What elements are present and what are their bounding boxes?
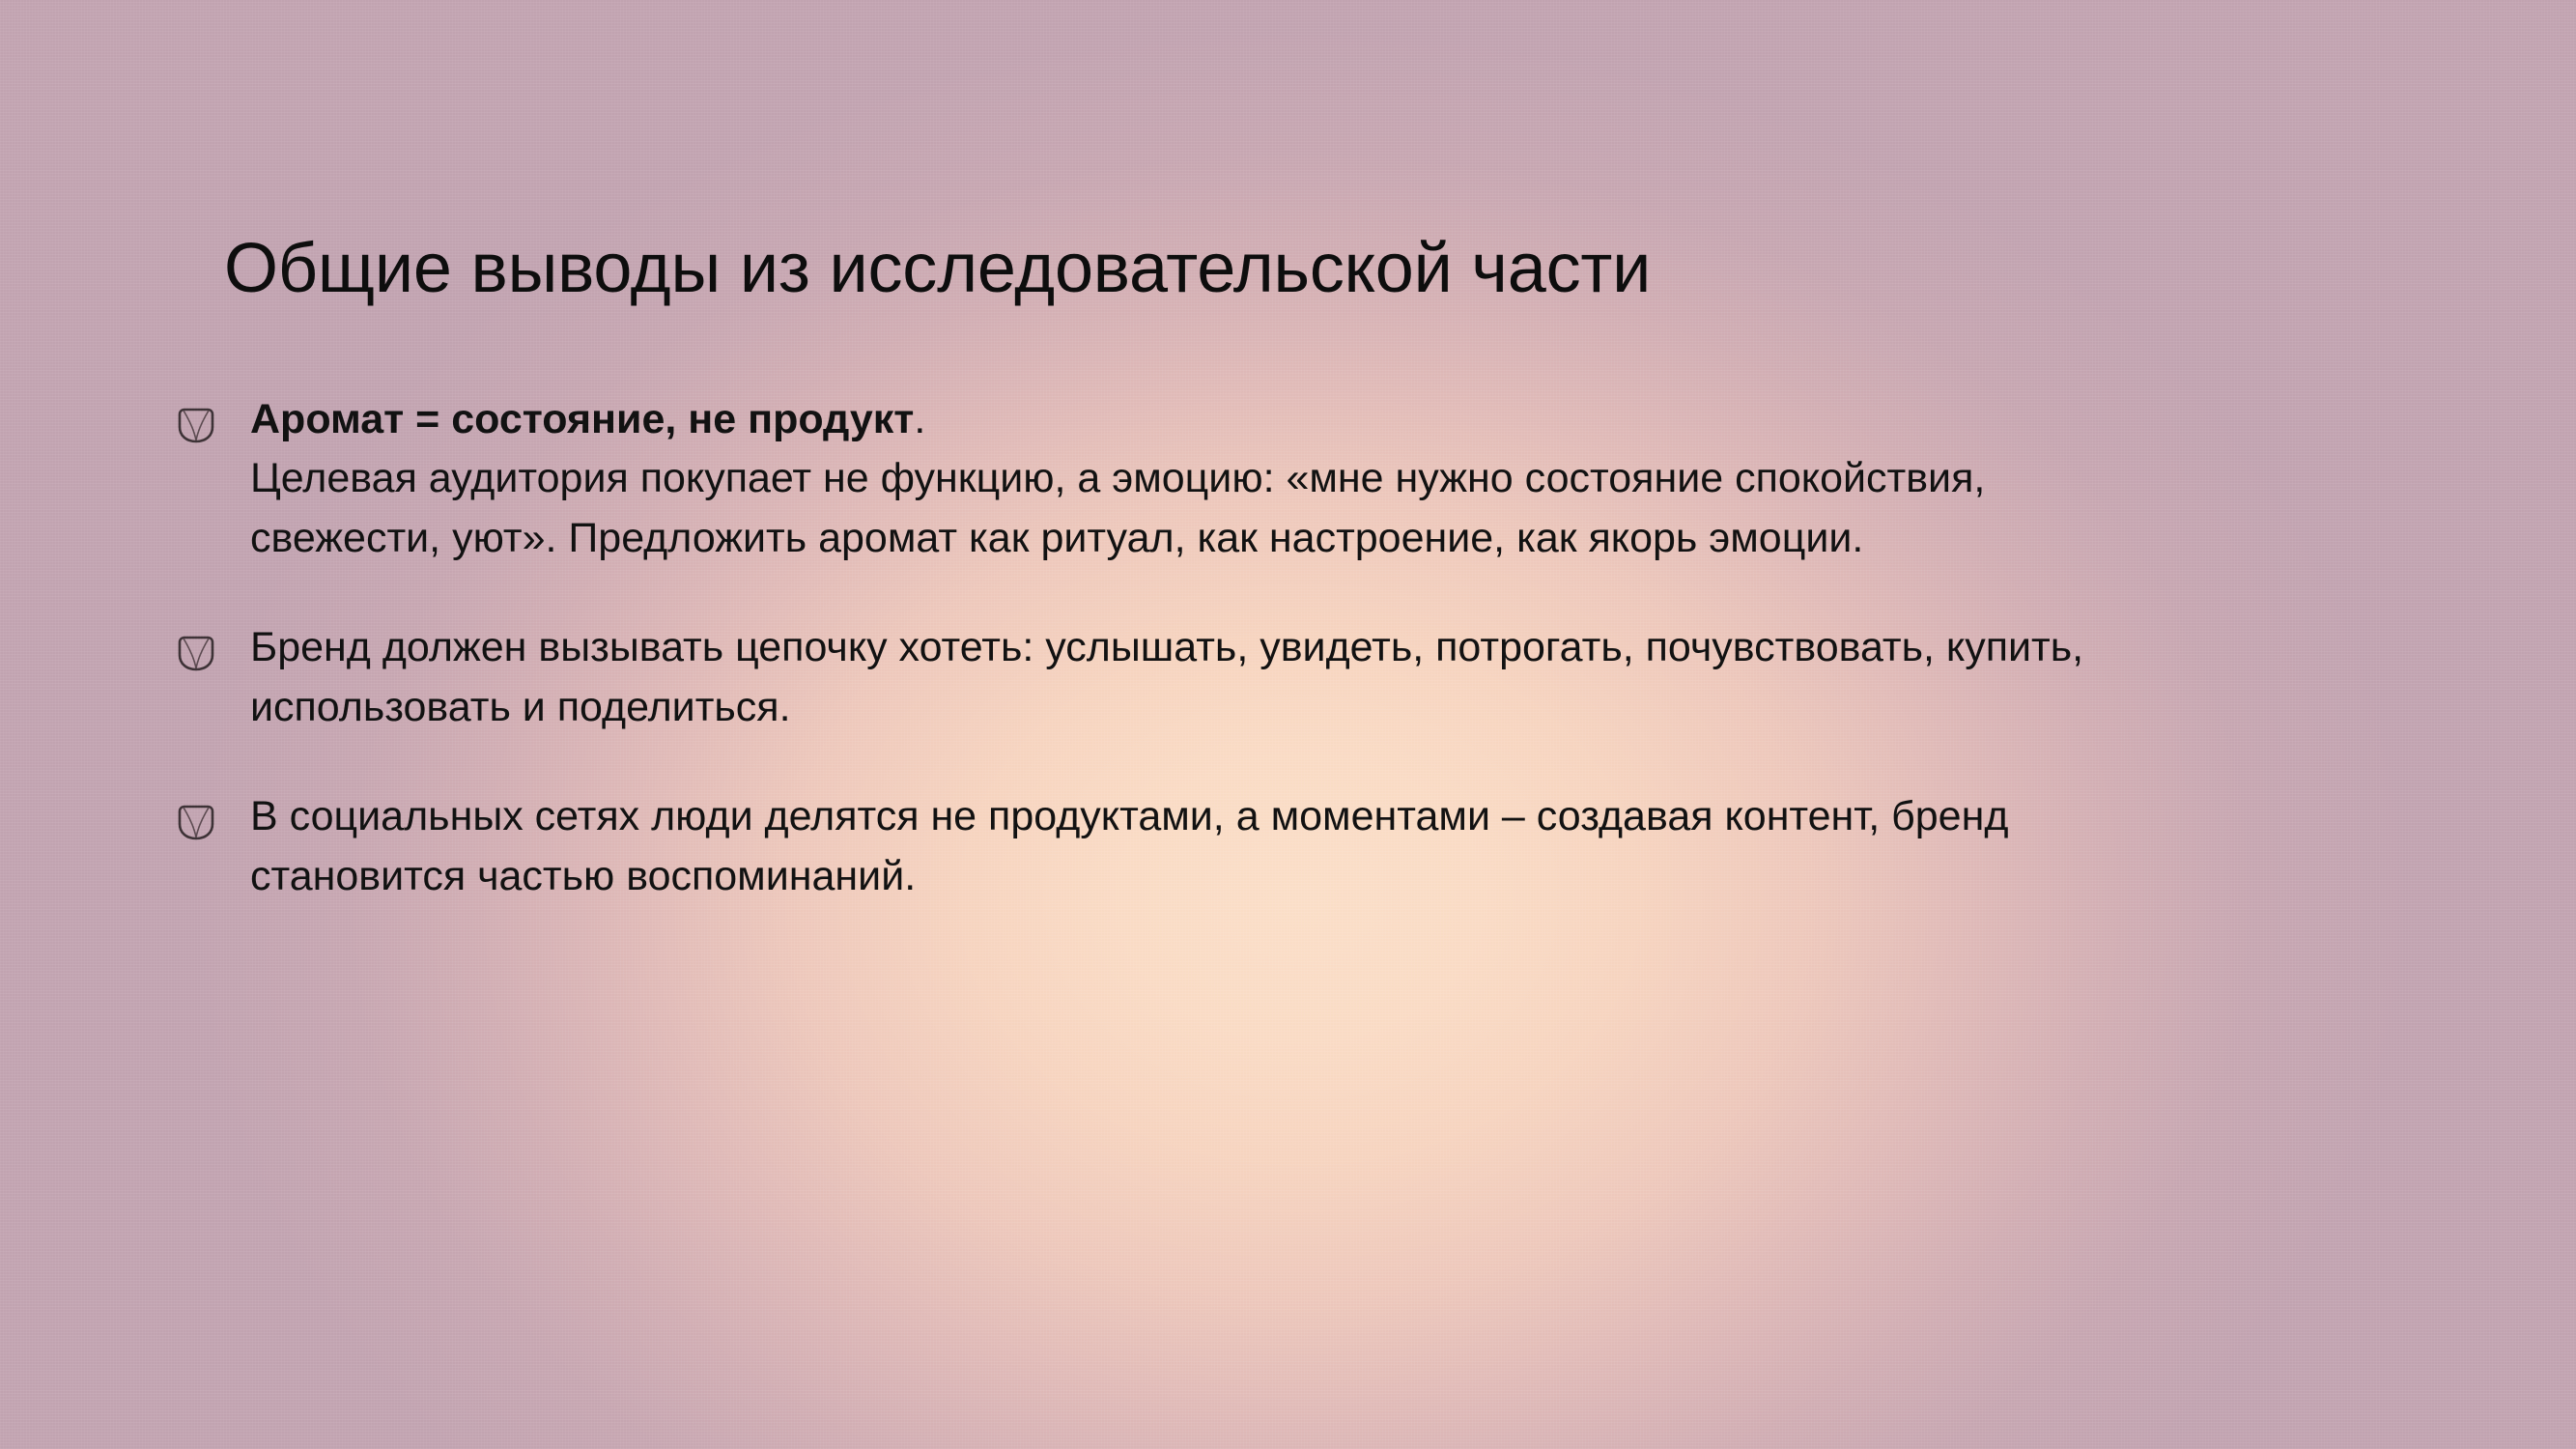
list-item: Бренд должен вызывать цепочку хотеть: ус… [177, 618, 2215, 737]
list-item: В социальных сетях люди делятся не проду… [177, 787, 2215, 906]
tulip-bullet-icon [177, 787, 250, 843]
list-item: Аромат = состояние, не продукт. Целевая … [177, 390, 2215, 568]
list-item-text: Бренд должен вызывать цепочку хотеть: ус… [250, 618, 2129, 737]
list-item-text: В социальных сетях люди делятся не проду… [250, 787, 2114, 906]
list-item-body: Целевая аудитория покупает не функцию, а… [250, 455, 1985, 560]
list-item-body: Бренд должен вызывать цепочку хотеть: ус… [250, 624, 2083, 729]
list-item-text: Аромат = состояние, не продукт. Целевая … [250, 390, 2172, 568]
tulip-bullet-icon [177, 618, 250, 674]
list-item-body: В социальных сетях люди делятся не проду… [250, 793, 2008, 898]
tulip-bullet-icon [177, 390, 250, 446]
page-title: Общие выводы из исследовательской части [224, 230, 2349, 308]
bullet-list: Аромат = состояние, не продукт. Целевая … [177, 390, 2215, 906]
list-item-lead: Аромат = состояние, не продукт [250, 396, 914, 442]
list-item-lead-suffix: . [914, 396, 925, 442]
presentation-slide: Общие выводы из исследовательской части … [0, 0, 2576, 1449]
